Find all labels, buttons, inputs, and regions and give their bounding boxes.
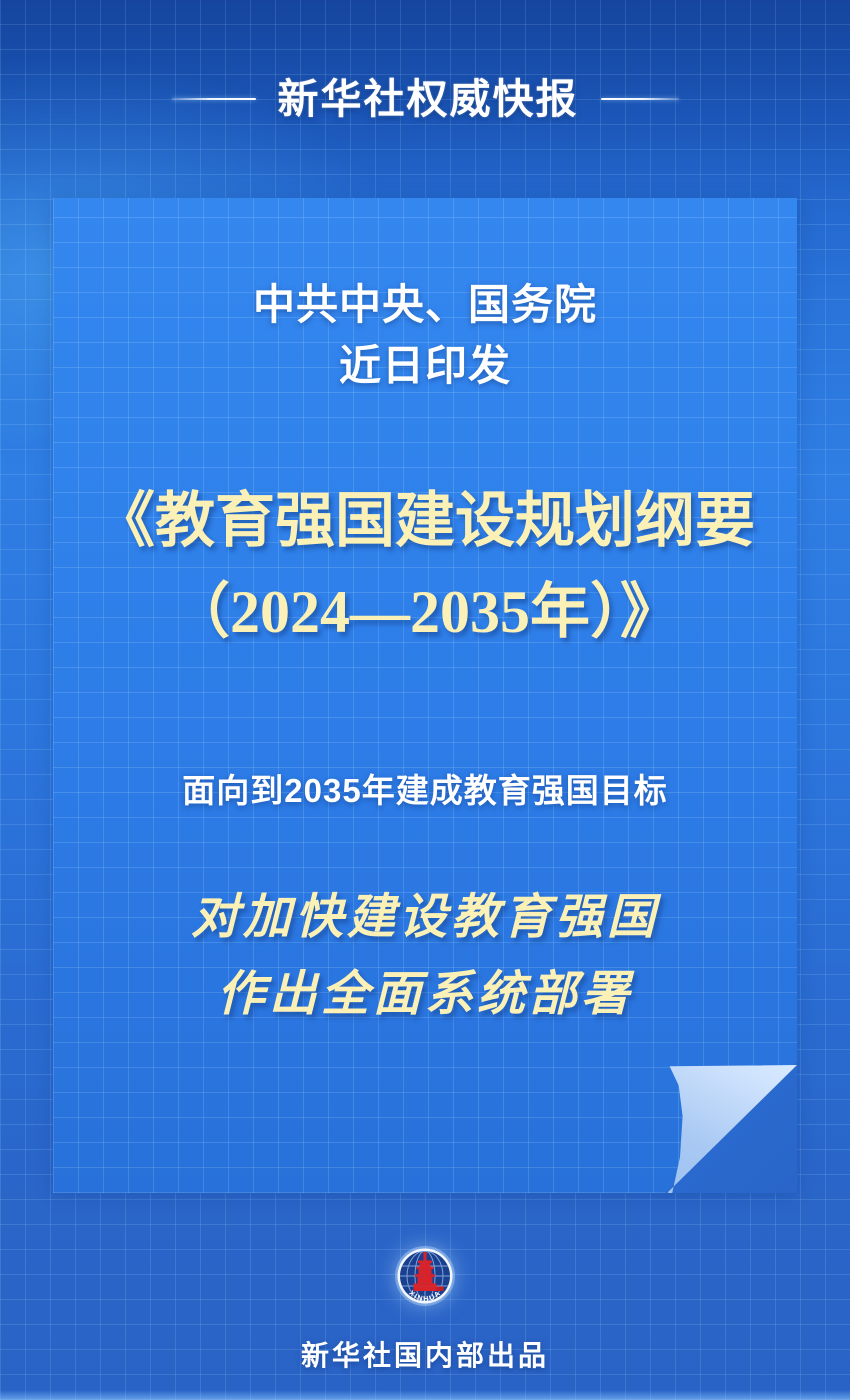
document-title-line-2: （2024—2035年）》 xyxy=(53,567,797,658)
background-bottom-strip xyxy=(0,1390,850,1400)
footer-credit: 新华社国内部出品 xyxy=(301,1334,549,1374)
lede-block: 中共中央、国务院 近日印发 xyxy=(53,274,797,397)
deployment-line-1: 对加快建设教育强国 xyxy=(53,880,797,957)
poster-root: 新华社权威快报 中共中央、国务院 近日印发 《教育强国建设规划纲要 （2024—… xyxy=(0,0,850,1400)
document-title-line-1: 《教育强国建设规划纲要 xyxy=(53,476,797,567)
deployment-block: 对加快建设教育强国 作出全面系统部署 xyxy=(53,880,797,1034)
header-title: 新华社权威快报 xyxy=(278,79,579,120)
xinhua-logo-svg: XINHUA xyxy=(387,1240,463,1316)
header-rule-left-icon xyxy=(172,98,256,100)
deployment-line-2: 作出全面系统部署 xyxy=(53,957,797,1034)
header-rule-right-icon xyxy=(601,98,679,100)
card-content: 中共中央、国务院 近日印发 《教育强国建设规划纲要 （2024—2035年）》 … xyxy=(53,198,797,1193)
footer: XINHUA 新华社国内部出品 xyxy=(0,1240,850,1374)
lede-line-2: 近日印发 xyxy=(53,335,797,396)
goal-statement: 面向到2035年建成教育强国目标 xyxy=(53,770,797,813)
content-card: 中共中央、国务院 近日印发 《教育强国建设规划纲要 （2024—2035年）》 … xyxy=(53,198,797,1193)
header-banner: 新华社权威快报 xyxy=(0,68,850,130)
lede-line-1: 中共中央、国务院 xyxy=(53,274,797,335)
xinhua-agency-logo-icon: XINHUA xyxy=(387,1240,463,1316)
document-title-block: 《教育强国建设规划纲要 （2024—2035年）》 xyxy=(53,476,797,658)
